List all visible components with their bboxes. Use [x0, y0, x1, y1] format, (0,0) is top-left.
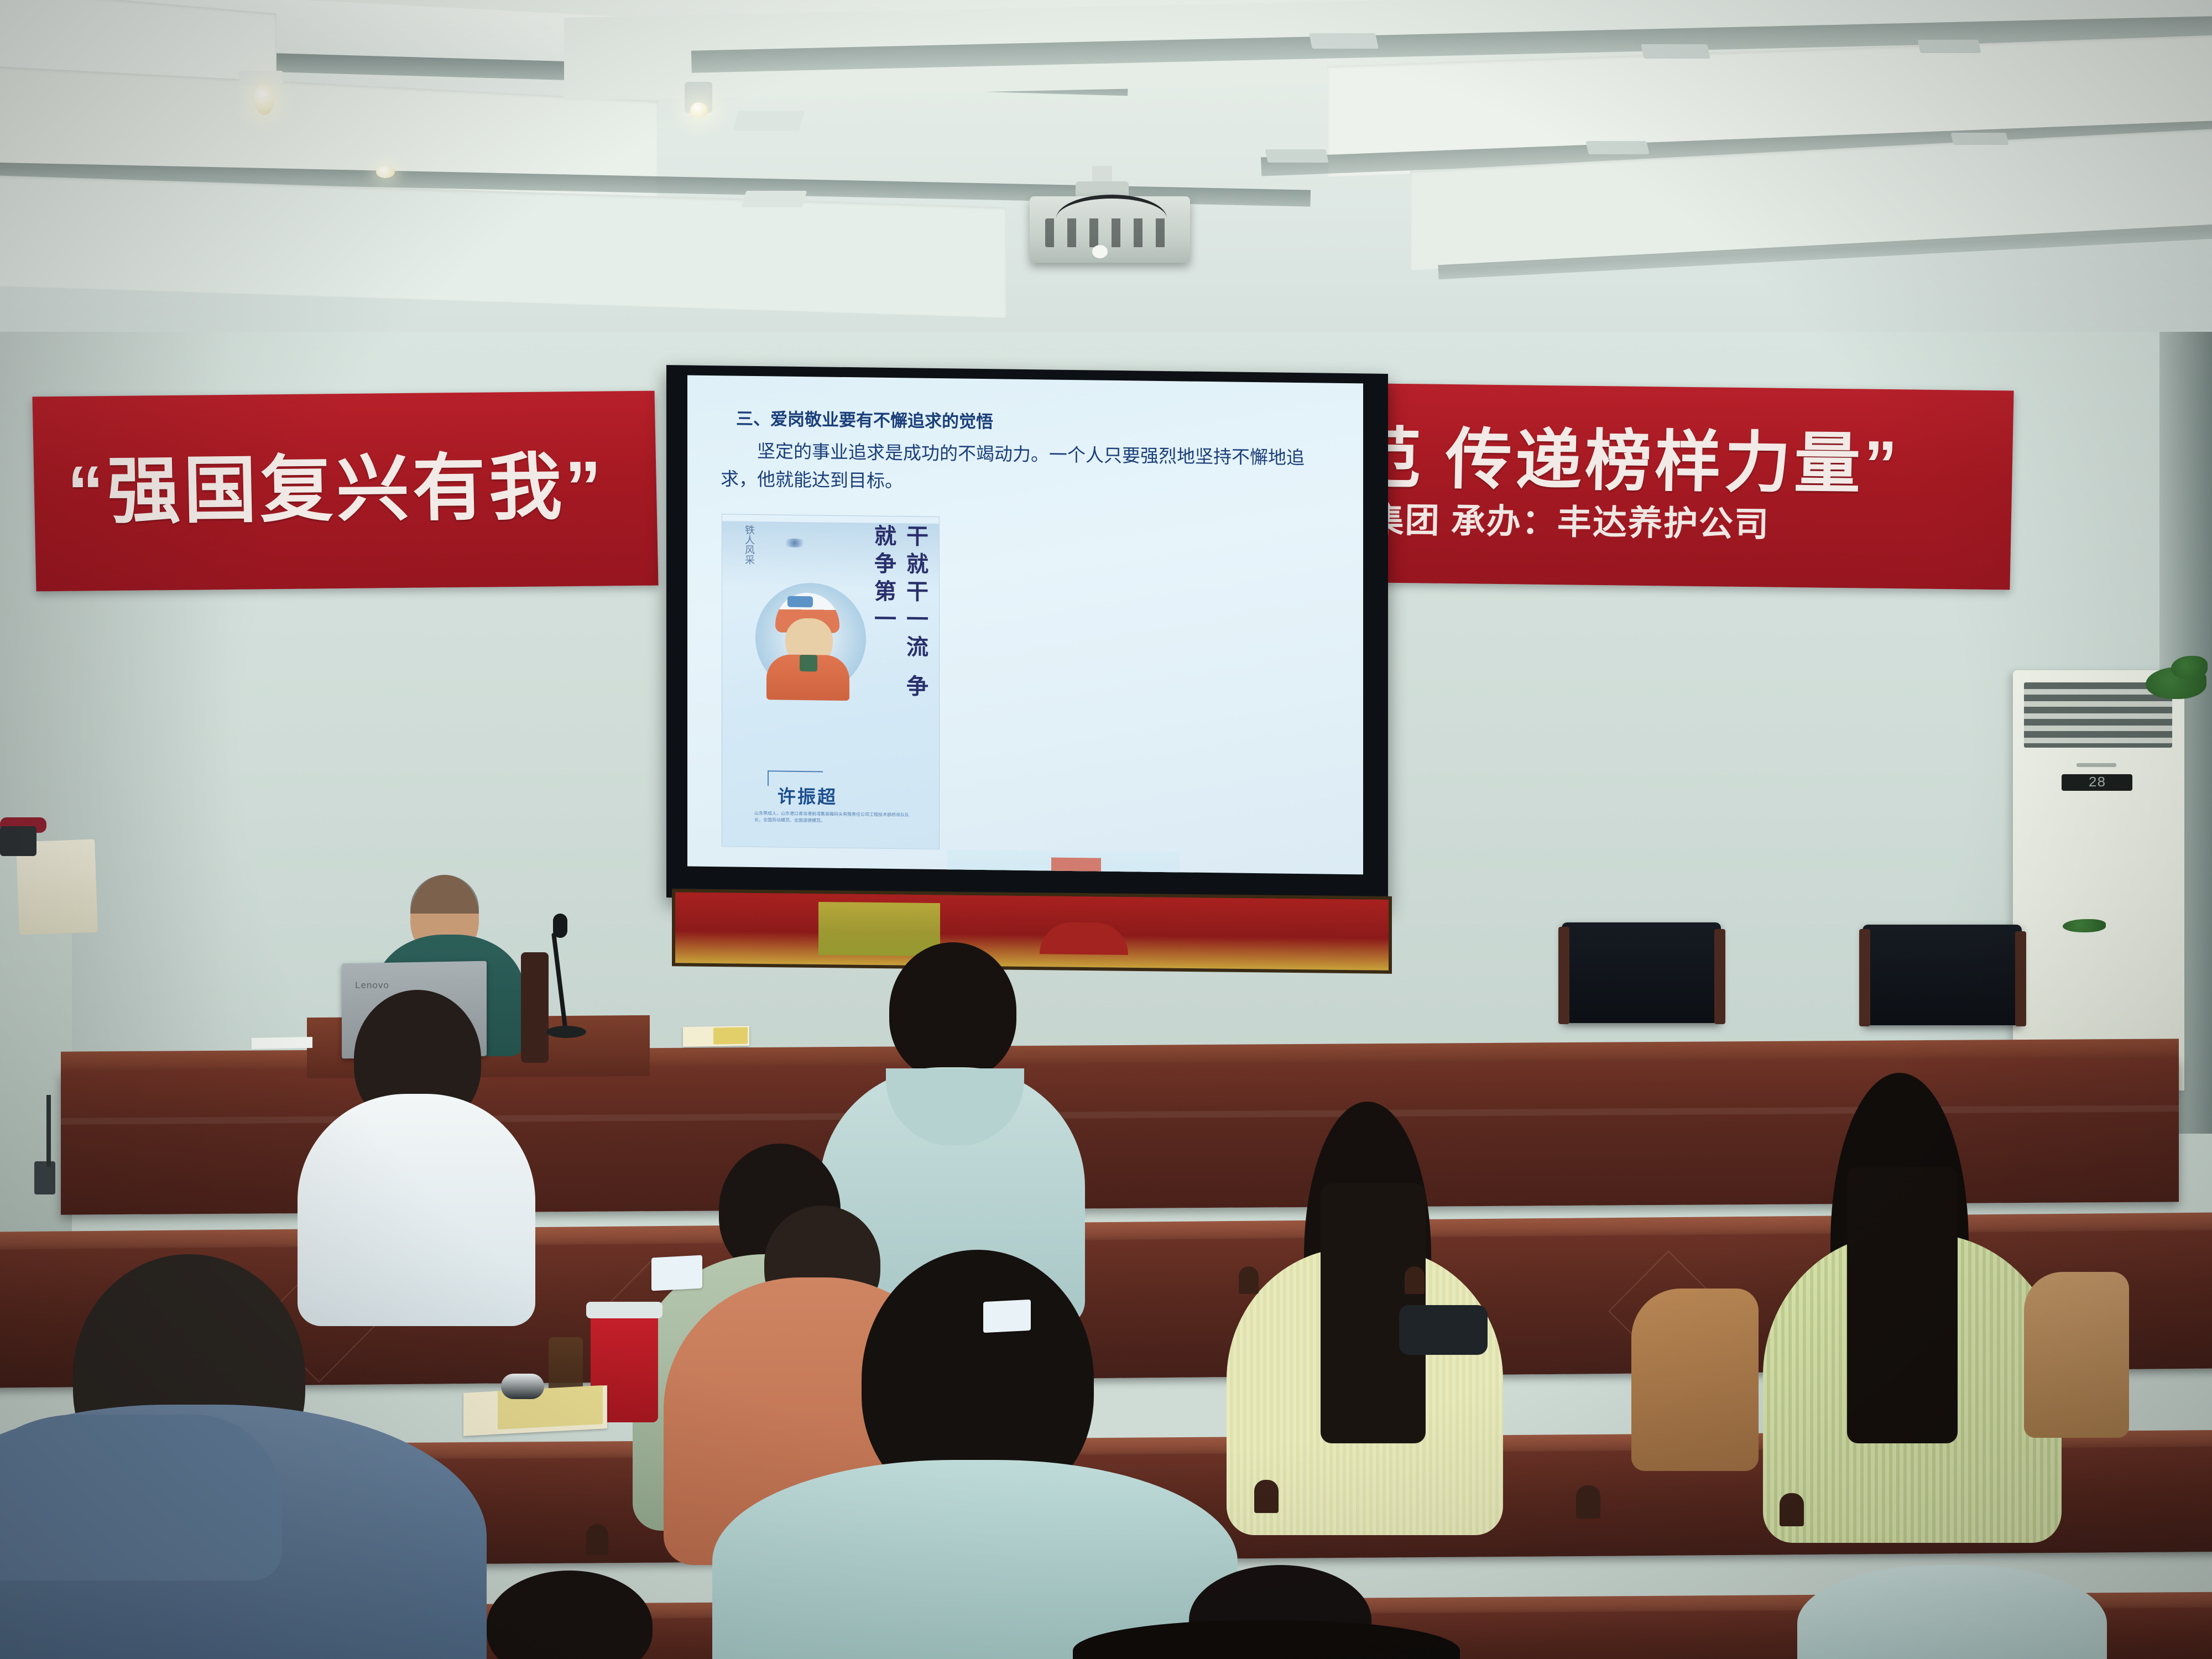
projection-screen-frame: 三、爱岗敬业要有不懈追求的觉悟 坚定的事业追求是成功的不竭动力。一个人只要强烈地… — [666, 365, 1388, 906]
laptop-brand-label: Lenovo — [355, 980, 389, 991]
poster-calligraphy: 干就干一流 争就争第一 — [867, 524, 931, 723]
audience-chair-knob-5 — [1239, 1266, 1259, 1294]
framed-painting-landscape — [818, 902, 940, 956]
dark-items-on-cabinet — [0, 826, 36, 856]
stage-chair-1-arm-left — [1558, 927, 1569, 1024]
poster-portrait-helmet-badge — [787, 596, 813, 608]
audience-chair-knob-6 — [1405, 1266, 1425, 1294]
projector-ports — [1045, 218, 1172, 247]
recessed-light-1 — [733, 111, 805, 131]
smartphone-2[interactable] — [983, 1300, 1031, 1333]
banner-left-text: “强国复兴有我” — [66, 428, 606, 539]
slide-photo — [947, 849, 1180, 874]
recessed-light-7 — [1585, 141, 1649, 154]
recessed-light-5 — [1917, 40, 1981, 53]
power-cable — [46, 1095, 51, 1167]
audience-arm-p8 — [1631, 1288, 1759, 1471]
audience-chair-knob-2 — [1576, 1485, 1600, 1519]
bag-on-bench — [1399, 1305, 1488, 1355]
audience-head-p5 — [889, 942, 1016, 1079]
poster-seal: 铁人风采 — [734, 525, 757, 565]
stage-chair-1-arm-right — [1714, 929, 1725, 1024]
red-tumbler-lid — [586, 1302, 662, 1318]
air-conditioner-decal-leaf — [2063, 919, 2106, 932]
audience-body-p2 — [298, 1094, 535, 1326]
audience-body-p11 — [1797, 1565, 2107, 1659]
slide-body-text: 坚定的事业追求是成功的不竭动力。一个人只要强烈地坚持不懈地追求，他就能达到目标。 — [721, 436, 1334, 500]
audience-hair-p9-front — [1847, 1167, 1958, 1443]
projection-screen: 三、爱岗敬业要有不懈追求的觉悟 坚定的事业追求是成功的不竭动力。一个人只要强烈地… — [687, 375, 1363, 874]
banner-right-text: 范 传递榜样力量” — [1353, 404, 1901, 507]
poster-portrait-collar — [800, 655, 817, 671]
slide-heading: 三、爱岗敬业要有不懈追求的觉悟 — [736, 405, 993, 433]
stage-chair-2-arm-left — [1859, 929, 1870, 1026]
air-conditioner[interactable]: 28 — [2013, 670, 2184, 1091]
projector-lens — [1092, 245, 1108, 258]
poster-name-rule — [768, 770, 823, 772]
banner-right-subtitle: 集团 承办：丰达养护公司 — [1369, 492, 1770, 546]
poster-caption: 山东荣成人，山东港口青岛港前湾集装箱码头有限责任公司工程技术部桥吊队队长，全国劳… — [754, 810, 915, 826]
stage-chair-2[interactable] — [1863, 925, 2022, 1025]
recessed-light-2 — [742, 191, 807, 207]
recessed-light-8 — [1951, 133, 2009, 145]
keychain-charm — [501, 1374, 544, 1399]
open-book-page-yellow — [713, 1027, 748, 1044]
air-conditioner-temperature: 28 — [2088, 774, 2105, 791]
wall-socket-box — [34, 1161, 55, 1194]
light-bulb-1 — [254, 83, 274, 115]
audience-chair-knob-1 — [1254, 1480, 1279, 1513]
presenter-chair-back — [521, 952, 549, 1063]
stage-chair-1[interactable] — [1562, 922, 1721, 1023]
smartphone-1[interactable] — [651, 1255, 702, 1291]
poster-name-bracket — [768, 770, 769, 786]
slide-poster: 铁人风采 干就干一流 争就争第一 许振超 山东荣成人，山东港口青岛港前湾集装箱码… — [722, 514, 940, 849]
light-bulb-2 — [690, 102, 708, 118]
air-conditioner-display: 28 — [2062, 774, 2132, 791]
stage-chair-2-arm-right — [2015, 931, 2026, 1026]
banner-right: 范 传递榜样力量” 集团 承办：丰达养护公司 — [1374, 384, 2013, 590]
poster-person-name: 许振超 — [778, 781, 837, 808]
photo-backdrop-crane-red-2 — [1051, 858, 1101, 875]
light-bulb-3 — [376, 166, 395, 178]
recessed-light-6 — [1265, 149, 1328, 163]
conference-room-photo: “强国复兴有我” 范 传递榜样力量” 集团 承办：丰达养护公司 三、爱岗敬业要有… — [0, 0, 2212, 1659]
audience-hood-p1 — [0, 1415, 282, 1580]
potted-plant-leaf-2 — [2171, 656, 2208, 679]
audience-chair-knob-4 — [586, 1524, 608, 1555]
audience-chair-knob-3 — [1780, 1493, 1804, 1526]
recessed-light-4 — [1641, 44, 1710, 59]
microphone-base — [546, 1026, 586, 1038]
poster-bird-mark — [782, 539, 807, 548]
track-light-fixture-1 — [239, 71, 283, 85]
audience-head-p10 — [487, 1571, 653, 1659]
air-conditioner-logo — [2077, 763, 2116, 767]
papers-on-podium — [252, 1037, 312, 1049]
recessed-light-3 — [1309, 33, 1379, 49]
framed-painting — [672, 889, 1392, 974]
audience-arm-p9 — [2024, 1272, 2129, 1438]
banner-left: “强国复兴有我” — [32, 391, 658, 592]
